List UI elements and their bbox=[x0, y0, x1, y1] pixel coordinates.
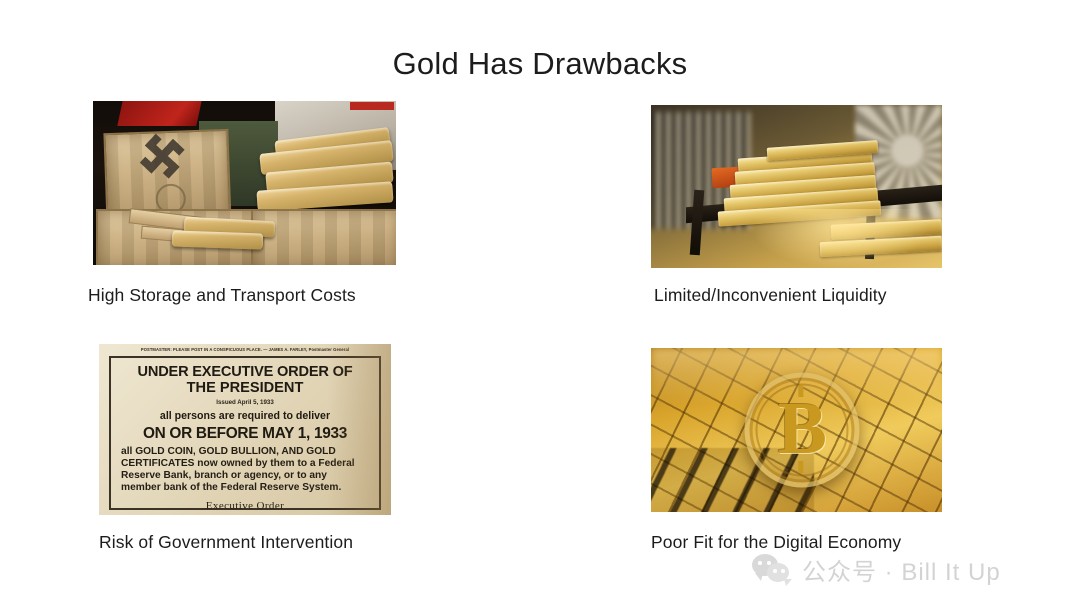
wechat-icon bbox=[752, 554, 792, 584]
bitcoin-coin-icon: B bbox=[745, 373, 860, 488]
poster-postmaster-line: POSTMASTER: PLEASE POST IN A CONSPICUOUS… bbox=[99, 347, 391, 352]
watermark: 公众号 · Bill It Up bbox=[752, 548, 1001, 590]
figure2-highlight bbox=[750, 209, 930, 268]
caption-limited-inconvenient-liquidity: Limited/Inconvenient Liquidity bbox=[654, 285, 887, 306]
swastika-stencil-icon bbox=[134, 128, 191, 185]
watermark-text: 公众号 · Bill It Up bbox=[802, 552, 1001, 587]
caption-high-storage-and-transport-costs: High Storage and Transport Costs bbox=[88, 285, 356, 306]
poster-heading-line2: THE PRESIDENT bbox=[187, 381, 304, 396]
poster-frame: UNDER EXECUTIVE ORDER OF THE PRESIDENT I… bbox=[109, 356, 381, 510]
bitcoin-symbol: B bbox=[778, 392, 827, 466]
poster-footer: Executive Order bbox=[206, 500, 284, 512]
poster-heading-line1: UNDER EXECUTIVE ORDER OF bbox=[138, 365, 353, 380]
poster-requirement: all persons are required to deliver bbox=[160, 410, 330, 422]
poster-issued-date: Issued April 5, 1933 bbox=[216, 399, 274, 406]
poster-body-text: all GOLD COIN, GOLD BULLION, AND GOLD CE… bbox=[121, 446, 369, 494]
figure1-poster-red-band bbox=[350, 102, 394, 110]
image-executive-order-poster: POSTMASTER: PLEASE POST IN A CONSPICUOUS… bbox=[99, 344, 391, 515]
poster-deadline: ON OR BEFORE MAY 1, 1933 bbox=[143, 425, 347, 443]
image-gold-bullion-stack bbox=[651, 105, 942, 268]
image-bitcoin-on-gold-bars: B bbox=[651, 348, 942, 512]
image-gold-bars-on-crates bbox=[93, 101, 396, 265]
figure1-red-flag bbox=[118, 101, 202, 126]
caption-risk-of-government-intervention: Risk of Government Intervention bbox=[99, 532, 353, 553]
page-title: Gold Has Drawbacks bbox=[0, 46, 1080, 82]
